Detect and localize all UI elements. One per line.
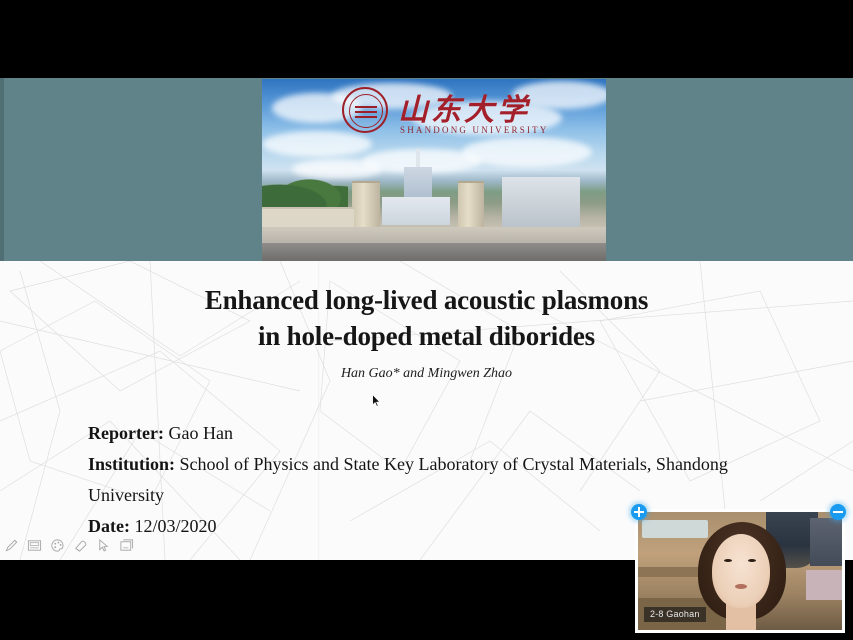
participant-video-thumbnail[interactable]: 2-8 Gaohan (638, 512, 842, 630)
shandong-university-logo: 山东大学 SHANDONG UNIVERSITY (342, 85, 572, 145)
clear-icon[interactable] (119, 538, 134, 553)
campus-main-building (382, 197, 450, 225)
campus-plaza (262, 227, 606, 243)
campus-right-building (502, 177, 580, 229)
slide-title: Enhanced long-lived acoustic plasmons in… (0, 282, 853, 354)
color-palette-icon[interactable] (50, 538, 65, 553)
meta-value-reporter: Gao Han (168, 423, 232, 443)
screen-share-view: 山东大学 SHANDONG UNIVERSITY (0, 0, 853, 640)
meta-value-date: 12/03/2020 (134, 516, 216, 536)
mouse-cursor (372, 394, 381, 408)
meta-value-institution: School of Physics and State Key Laborato… (88, 454, 728, 505)
participant-face (712, 534, 770, 608)
participant-eye-left (724, 559, 732, 562)
slide-banner-band: 山东大学 SHANDONG UNIVERSITY (0, 78, 853, 261)
add-video-button[interactable] (631, 504, 647, 520)
video-bg-box (806, 570, 842, 600)
university-name-chinese: 山东大学 (398, 85, 530, 129)
pen-icon[interactable] (4, 538, 19, 553)
campus-canopy (262, 207, 354, 227)
meta-row-institution: Institution: School of Physics and State… (88, 449, 788, 511)
highlighter-icon[interactable] (27, 538, 42, 553)
presentation-slide: 山东大学 SHANDONG UNIVERSITY (0, 78, 853, 560)
university-name-english: SHANDONG UNIVERSITY (400, 125, 549, 135)
meta-label-date: Date: (88, 516, 130, 536)
reduce-video-button[interactable] (830, 504, 846, 520)
campus-spire (416, 149, 420, 169)
video-bg-clothes-secondary (810, 518, 842, 566)
video-bg-shelf (642, 520, 708, 538)
meta-label-reporter: Reporter: (88, 423, 164, 443)
banner-left-edge (0, 78, 4, 261)
pointer-icon[interactable] (96, 538, 111, 553)
university-seal-icon (342, 87, 388, 133)
eraser-icon[interactable] (73, 538, 88, 553)
slide-title-line-1: Enhanced long-lived acoustic plasmons (0, 282, 853, 318)
annotation-toolbar[interactable] (4, 538, 134, 553)
participant-mouth (735, 584, 747, 589)
slide-authors: Han Gao* and Mingwen Zhao (0, 366, 853, 382)
slide-title-line-2: in hole-doped metal diborides (0, 318, 853, 354)
participant-name-label: 2-8 Gaohan (644, 607, 706, 622)
meta-label-institution: Institution: (88, 454, 175, 474)
participant-eye-right (748, 559, 756, 562)
campus-road (262, 243, 606, 261)
campus-photo: 山东大学 SHANDONG UNIVERSITY (262, 79, 606, 261)
meta-row-reporter: Reporter: Gao Han (88, 418, 788, 449)
